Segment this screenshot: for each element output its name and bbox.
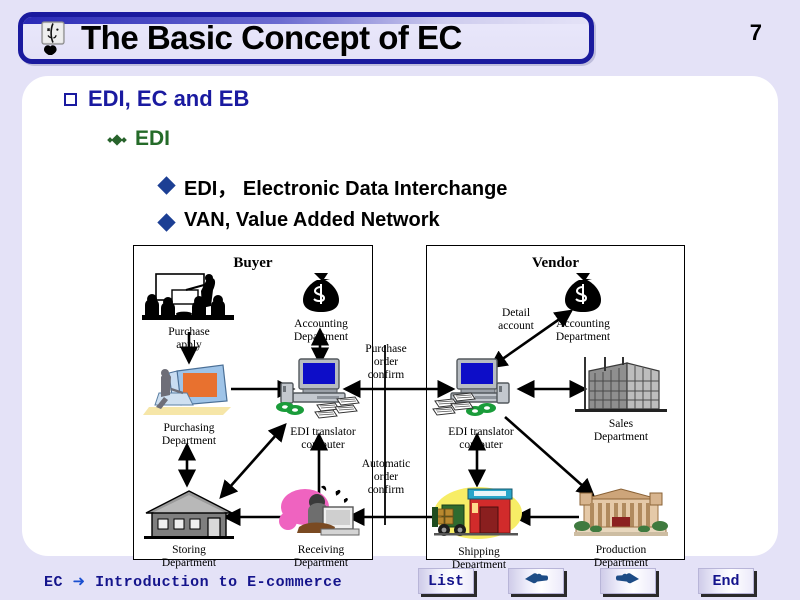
node-caption: Purchase: [141, 326, 237, 339]
title-bar-sheen: [23, 17, 589, 24]
node-caption: Purchasing: [141, 422, 237, 435]
filled-diamond-bullet-icon: [157, 213, 175, 231]
node-caption: Department: [279, 331, 363, 344]
node-purchasing-department: Purchasing Department: [141, 363, 237, 448]
node-caption: Department: [141, 557, 237, 570]
bullet-level3-electronic-data-interchange: EDI， Electronic Data Interchange: [160, 172, 507, 201]
page-number: 7: [750, 20, 762, 46]
node-caption: Accounting: [541, 318, 625, 331]
node-caption: Receiving: [273, 544, 369, 557]
edi-flow-diagram: Buyer Vendor: [133, 245, 685, 560]
node-caption: Department: [573, 431, 669, 444]
hand-right-icon: [615, 571, 641, 591]
factory-building-icon: [573, 485, 669, 544]
node-shipping-department: Shipping Department: [431, 483, 527, 572]
node-sales-department: Sales Department: [573, 357, 669, 444]
slide-title-bar: The Basic Concept of EC: [18, 12, 594, 64]
desktop-workstation-icon: [141, 363, 237, 422]
money-bag-icon: [541, 271, 625, 318]
bullet-text: EDI, EC and EB: [88, 86, 249, 112]
node-receiving-department: Receiving Department: [273, 485, 369, 570]
node-storing-department: Storing Department: [141, 489, 237, 570]
hand-left-icon: [523, 571, 549, 591]
end-button[interactable]: End: [698, 568, 754, 594]
node-caption: Department: [273, 557, 369, 570]
next-slide-button[interactable]: [600, 568, 656, 594]
bullet-text: EDI， Electronic Data Interchange: [184, 172, 507, 201]
node-edi-translator-computer-buyer: EDI translator computer: [273, 357, 373, 452]
bullet-text: VAN, Value Added Network: [184, 209, 440, 232]
filled-diamond-bullet-icon: [157, 176, 175, 194]
node-purchase-apply: Purchase apply: [141, 273, 237, 352]
warehouse-house-icon: [141, 489, 237, 544]
node-caption: computer: [273, 439, 373, 452]
previous-slide-button[interactable]: [508, 568, 564, 594]
node-caption: Shipping: [431, 546, 527, 559]
node-caption: EDI translator: [431, 426, 531, 439]
meeting-presentation-icon: [141, 273, 237, 326]
person-at-computer-icon: [273, 485, 369, 544]
bullet-level3-value-added-network: VAN, Value Added Network: [160, 209, 440, 232]
node-caption: EDI translator: [273, 426, 373, 439]
node-edi-translator-computer-vendor: EDI translator computer: [431, 357, 531, 452]
node-caption: apply: [141, 339, 237, 352]
edge-label-detail-account: Detail account: [488, 307, 544, 333]
node-production-department: Production Department: [573, 485, 669, 570]
end-button-label: End: [712, 573, 739, 590]
footer-course-name: Introduction to E-commerce: [95, 574, 342, 591]
bullet-text: EDI: [135, 127, 170, 151]
list-button[interactable]: List: [418, 568, 474, 594]
node-caption: Department: [541, 331, 625, 344]
footer-course-code: EC: [44, 574, 63, 591]
truck-store-icon: [431, 483, 527, 546]
page-title: The Basic Concept of EC: [81, 19, 462, 57]
node-accounting-department-buyer: Accounting Department: [279, 271, 363, 344]
node-accounting-department-vendor: Accounting Department: [541, 271, 625, 344]
office-building-icon: [573, 357, 669, 418]
node-caption: Department: [141, 435, 237, 448]
node-caption: Storing: [141, 544, 237, 557]
list-button-label: List: [428, 573, 464, 590]
arrow-right-icon: ➜: [73, 572, 86, 590]
bullet-level2-edi: EDI: [110, 127, 170, 151]
node-caption: Accounting: [279, 318, 363, 331]
diamond-flower-bullet-icon: [110, 133, 124, 147]
node-caption: computer: [431, 439, 531, 452]
bullet-level1-edi-ec-eb: EDI, EC and EB: [64, 86, 249, 112]
hollow-square-bullet-icon: [64, 93, 77, 106]
computer-cds-papers-icon: [431, 357, 531, 426]
money-bag-icon: [279, 271, 363, 318]
node-caption: Production: [573, 544, 669, 557]
node-caption: Sales: [573, 418, 669, 431]
footer-breadcrumb: EC ➜ Introduction to E-commerce: [44, 572, 342, 591]
computer-cds-papers-icon: [273, 357, 373, 426]
finder-heart-icon: [35, 21, 71, 55]
